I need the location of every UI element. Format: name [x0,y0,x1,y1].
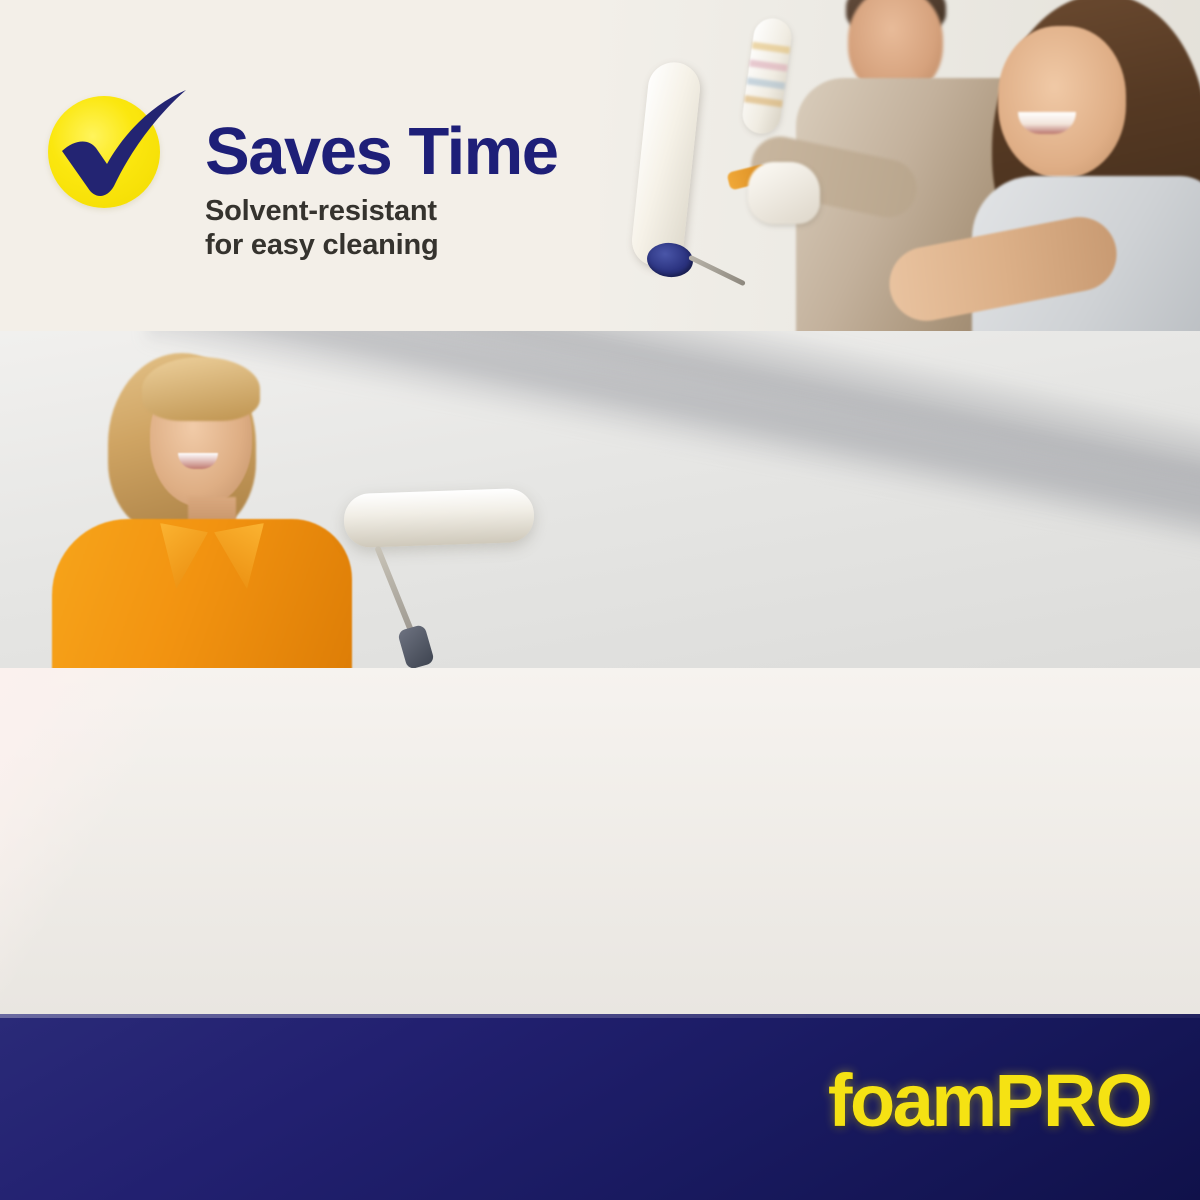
photo-fade-overlay [0,668,1200,1014]
paint-roller-cover [343,488,535,549]
paint-roller-frame [374,545,416,636]
logo-text-pro: PRO [995,1059,1152,1142]
footer-top-highlight [0,1014,1200,1018]
woman-face [998,26,1126,178]
woman-bangs [142,357,260,421]
brand-footer: foamPRO [0,1014,1200,1200]
panel-subtitle: Solvent-resistant for easy cleaning [205,195,558,263]
woman-orange-shirt-photo [0,331,560,668]
couple-painting-photo [600,0,1200,331]
benefit-panel-saves-time: Saves Time Solvent-resistant for easy cl… [0,0,1200,331]
painting-glove [748,162,820,224]
panel-subtitle-line-1: Solvent-resistant [205,195,558,229]
paint-roller-handle [397,624,435,668]
checkmark-icon [44,72,196,222]
checkmark-badge-saves-time [48,96,166,214]
benefit-text-saves-time: Saves Time Solvent-resistant for easy cl… [205,118,558,263]
panel-3-photo-scene [0,668,1200,1014]
benefit-panel-saves-paint: Saves Paint Eliminates drips, splatters,… [0,331,1200,668]
logo-text-foam: foam [828,1059,995,1142]
panel-2-photo-scene [0,331,1200,668]
promo-poster: Saves Time Solvent-resistant for easy cl… [0,0,1200,1200]
benefit-panel-saves-money: Saves Money [0,668,1200,1014]
panel-subtitle-line-2: for easy cleaning [205,229,558,263]
panel-headline: Saves Time [205,118,558,186]
foampro-logo: foamPRO [828,1064,1152,1138]
